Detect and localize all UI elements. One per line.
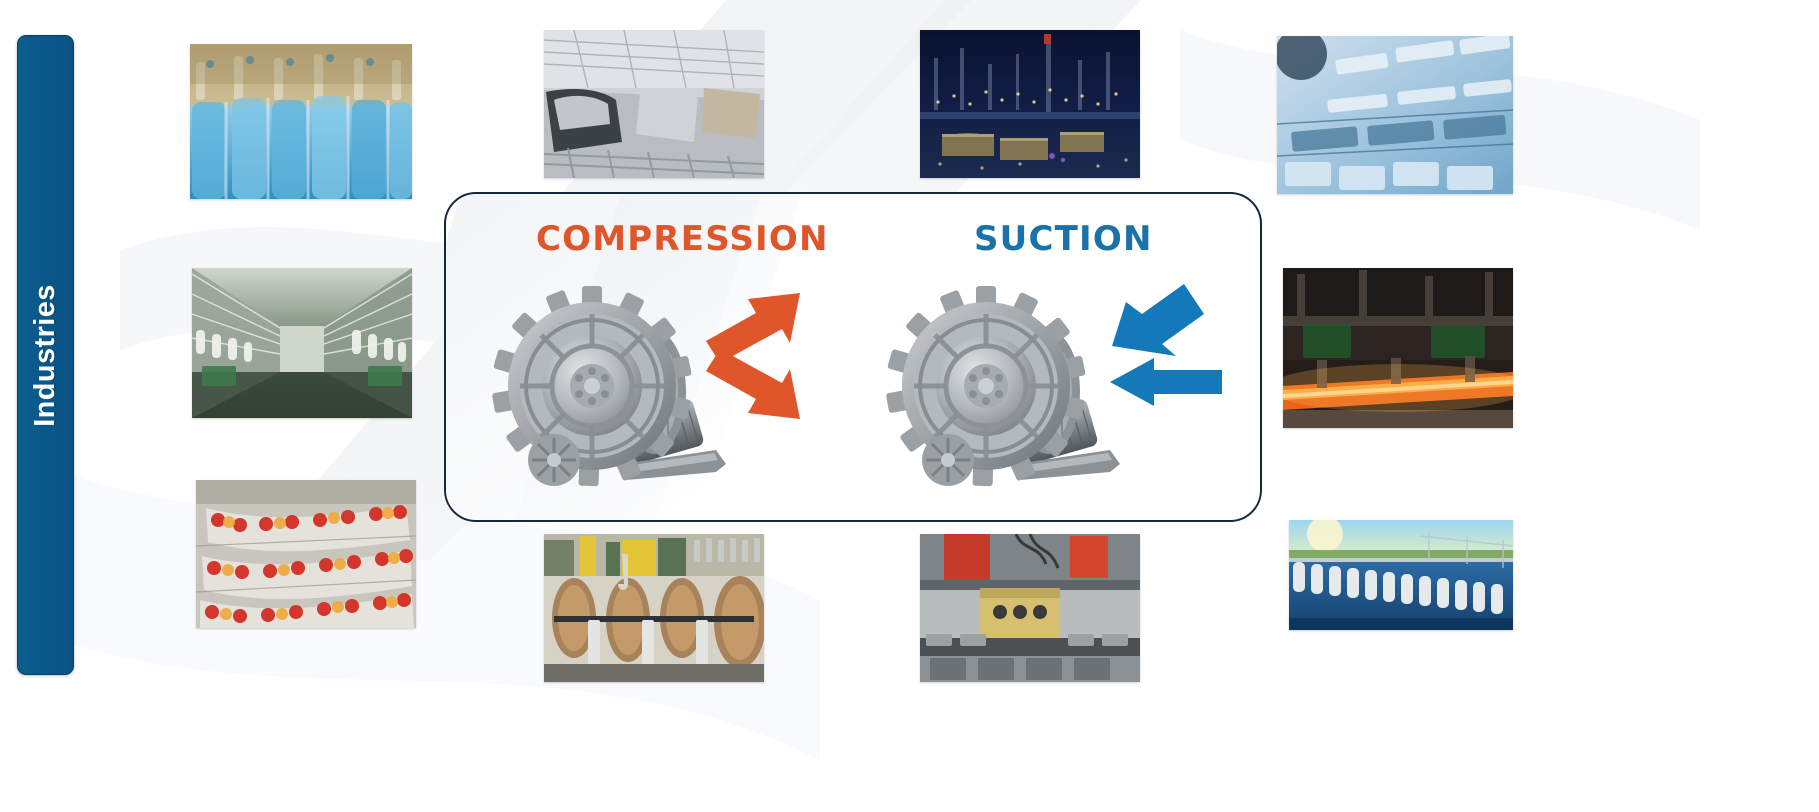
thumbnail-steel-mill[interactable] xyxy=(1283,268,1513,428)
suction-arrows xyxy=(1096,282,1231,417)
blower-graphic xyxy=(504,274,734,494)
side-channel-blower-icon-compression xyxy=(504,274,734,494)
double-inflow-arrow-icon xyxy=(1096,282,1231,417)
thumbnail-automotive-plant[interactable] xyxy=(544,30,764,178)
blower-graphic-2 xyxy=(898,274,1128,494)
thumbnail-wastewater-plant[interactable] xyxy=(1289,520,1513,630)
thumbnail-oil-refinery[interactable] xyxy=(920,30,1140,178)
sidebar-item-label: Industries xyxy=(29,284,62,427)
thumbnail-food-sorting[interactable] xyxy=(196,480,416,628)
slide-canvas: Industries xyxy=(0,0,1819,812)
beverage-bottling-image xyxy=(190,44,412,199)
food-sorting-image xyxy=(196,480,416,628)
column-title-compression: COMPRESSION xyxy=(536,219,829,259)
precision-machinery-image xyxy=(1277,36,1513,194)
packaging-line-image xyxy=(920,534,1140,682)
steel-mill-image xyxy=(1283,268,1513,428)
thumbnail-packaging-line[interactable] xyxy=(920,534,1140,682)
center-panel-inner: COMPRESSION SUCTION xyxy=(446,194,1260,520)
double-outflow-arrow-icon xyxy=(704,289,834,424)
center-panel: COMPRESSION SUCTION xyxy=(444,192,1262,522)
column-title-suction: SUCTION xyxy=(974,219,1153,259)
compression-arrows xyxy=(704,289,834,424)
thumbnail-precision-machinery[interactable] xyxy=(1277,36,1513,194)
paper-mill-image xyxy=(544,534,764,682)
textile-mill-image xyxy=(192,268,412,418)
thumbnail-beverage-bottling[interactable] xyxy=(190,44,412,199)
sidebar-industries-tab[interactable]: Industries xyxy=(17,35,74,675)
side-channel-blower-icon-suction xyxy=(898,274,1128,494)
oil-refinery-image xyxy=(920,30,1140,178)
wastewater-plant-image xyxy=(1289,520,1513,630)
thumbnail-textile-mill[interactable] xyxy=(192,268,412,418)
automotive-plant-image xyxy=(544,30,764,178)
thumbnail-paper-mill[interactable] xyxy=(544,534,764,682)
